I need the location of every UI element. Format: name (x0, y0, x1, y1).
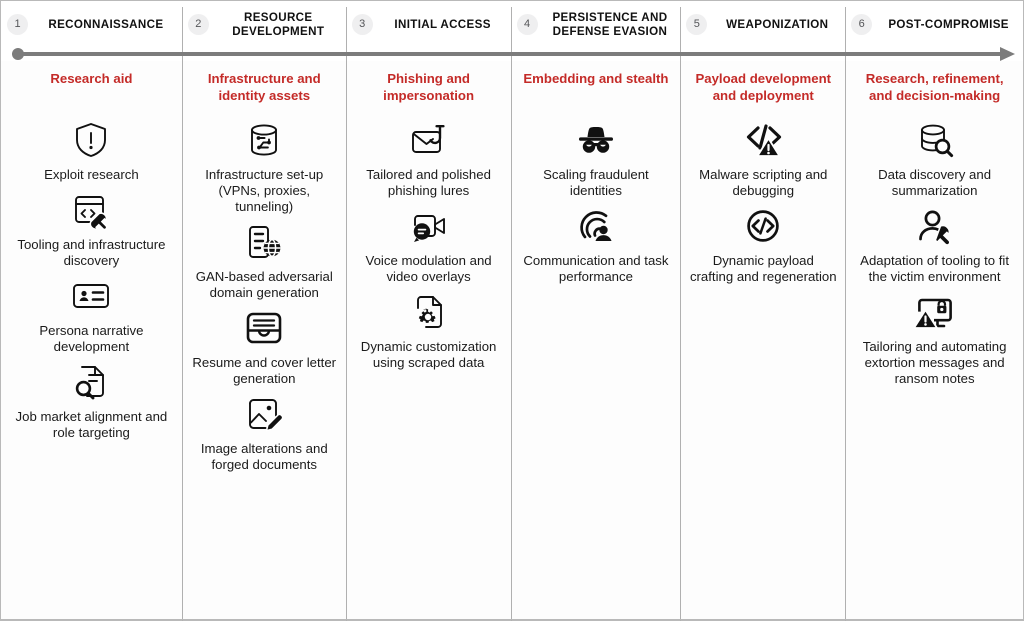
stage-column-6: Research, refinement, and decision-makin… (845, 61, 1023, 619)
stage-number-badge: 1 (7, 14, 28, 35)
capability-label: Resume and cover letter generation (191, 355, 338, 387)
video-chat-bubble-icon (406, 203, 452, 249)
monitor-lock-warning-icon (912, 289, 958, 335)
capability-item: Scaling fraudulent identities (520, 117, 673, 199)
stage-column-3: Phishing and impersonationTailored and p… (346, 61, 511, 619)
capability-item: Tailored and polished phishing lures (355, 117, 503, 199)
capability-label: Tailored and polished phishing lures (355, 167, 503, 199)
capability-item: Voice modulation and video overlays (355, 203, 503, 285)
stage-number-badge: 5 (686, 14, 707, 35)
timeline-arrow (1, 47, 1023, 61)
stage-number-badge: 2 (188, 14, 209, 35)
database-search-icon (912, 117, 958, 163)
stage-header-1: 1RECONNAISSANCE (1, 1, 182, 48)
stage-theme-label: Research, refinement, and decision-makin… (854, 71, 1015, 105)
capability-label: Infrastructure set-up (VPNs, proxies, tu… (191, 167, 338, 215)
capability-item: Malware scripting and debugging (689, 117, 837, 199)
stage-theme-label: Payload development and deployment (689, 71, 837, 105)
capability-item: Dynamic payload crafting and regeneratio… (689, 203, 837, 285)
capability-item: Image alterations and forged documents (191, 391, 338, 473)
capability-item: Infrastructure set-up (VPNs, proxies, tu… (191, 117, 338, 215)
capability-item: Exploit research (9, 117, 174, 183)
stage-name-label: INITIAL ACCESS (381, 18, 505, 32)
shield-alert-icon (68, 117, 114, 163)
stage-name-label: WEAPONIZATION (715, 18, 839, 32)
stage-header-2: 2RESOURCE DEVELOPMENT (182, 1, 346, 48)
stage-number-badge: 4 (517, 14, 538, 35)
timeline-arrowhead-icon (1000, 47, 1015, 61)
capability-label: Voice modulation and video overlays (355, 253, 503, 285)
capability-item: Resume and cover letter generation (191, 305, 338, 387)
stage-theme-label: Research aid (50, 71, 132, 105)
stage-column-4: Embedding and stealthScaling fraudulent … (511, 61, 681, 619)
capability-label: Tailoring and automating extortion messa… (854, 339, 1015, 387)
capability-label: Data discovery and summarization (854, 167, 1015, 199)
capability-label: Communication and task performance (520, 253, 673, 285)
stage-name-label: RECONNAISSANCE (36, 18, 176, 32)
database-network-icon (241, 117, 287, 163)
capability-item: Tooling and infrastructure discovery (9, 187, 174, 269)
document-gear-icon (406, 289, 452, 335)
stage-columns: Research aidExploit researchTooling and … (1, 61, 1023, 620)
stage-column-1: Research aidExploit researchTooling and … (1, 61, 182, 619)
code-circle-icon (740, 203, 786, 249)
stage-header-6: 6POST-COMPROMISE (845, 1, 1023, 48)
envelope-fishhook-icon (406, 117, 452, 163)
capability-label: Exploit research (44, 167, 139, 183)
capability-label: Job market alignment and role targeting (9, 409, 174, 441)
code-window-wrench-icon (68, 187, 114, 233)
stage-name-label: POST-COMPROMISE (880, 18, 1017, 32)
stage-header-4: 4PERSISTENCE AND DEFENSE EVASION (511, 1, 681, 48)
stage-header-row: 1RECONNAISSANCE2RESOURCE DEVELOPMENT3INI… (1, 1, 1023, 48)
capability-item: Job market alignment and role targeting (9, 359, 174, 441)
stage-number-badge: 3 (352, 14, 373, 35)
capability-item: Adaptation of tooling to fit the victim … (854, 203, 1015, 285)
capability-label: Malware scripting and debugging (689, 167, 837, 199)
stage-number-badge: 6 (851, 14, 872, 35)
image-edit-pencil-icon (241, 391, 287, 437)
attack-lifecycle-diagram: 1RECONNAISSANCE2RESOURCE DEVELOPMENT3INI… (0, 0, 1024, 621)
code-warning-icon (740, 117, 786, 163)
capability-label: Adaptation of tooling to fit the victim … (854, 253, 1015, 285)
capability-item: Data discovery and summarization (854, 117, 1015, 199)
capability-label: Persona narrative development (9, 323, 174, 355)
stage-name-label: PERSISTENCE AND DEFENSE EVASION (546, 11, 675, 38)
person-wrench-icon (912, 203, 958, 249)
stage-column-2: Infrastructure and identity assetsInfras… (182, 61, 346, 619)
stage-header-5: 5WEAPONIZATION (680, 1, 845, 48)
capability-item: Persona narrative development (9, 273, 174, 355)
stage-theme-label: Phishing and impersonation (355, 71, 503, 105)
capability-label: Tooling and infrastructure discovery (9, 237, 174, 269)
inbox-document-icon (241, 305, 287, 351)
capability-label: GAN-based adversarial domain generation (191, 269, 338, 301)
incognito-hat-glasses-icon (573, 117, 619, 163)
server-globe-icon (241, 219, 287, 265)
stage-header-3: 3INITIAL ACCESS (346, 1, 511, 48)
signal-person-icon (573, 203, 619, 249)
id-card-icon (68, 273, 114, 319)
stage-theme-label: Embedding and stealth (523, 71, 668, 105)
capability-label: Scaling fraudulent identities (520, 167, 673, 199)
timeline-line (15, 52, 1001, 56)
capability-label: Image alterations and forged documents (191, 441, 338, 473)
stage-theme-label: Infrastructure and identity assets (191, 71, 338, 105)
capability-item: Communication and task performance (520, 203, 673, 285)
capability-label: Dynamic payload crafting and regeneratio… (689, 253, 837, 285)
document-search-icon (68, 359, 114, 405)
capability-item: Dynamic customization using scraped data (355, 289, 503, 371)
capability-item: Tailoring and automating extortion messa… (854, 289, 1015, 387)
capability-item: GAN-based adversarial domain generation (191, 219, 338, 301)
stage-column-5: Payload development and deploymentMalwar… (680, 61, 845, 619)
capability-label: Dynamic customization using scraped data (355, 339, 503, 371)
stage-name-label: RESOURCE DEVELOPMENT (217, 11, 340, 38)
